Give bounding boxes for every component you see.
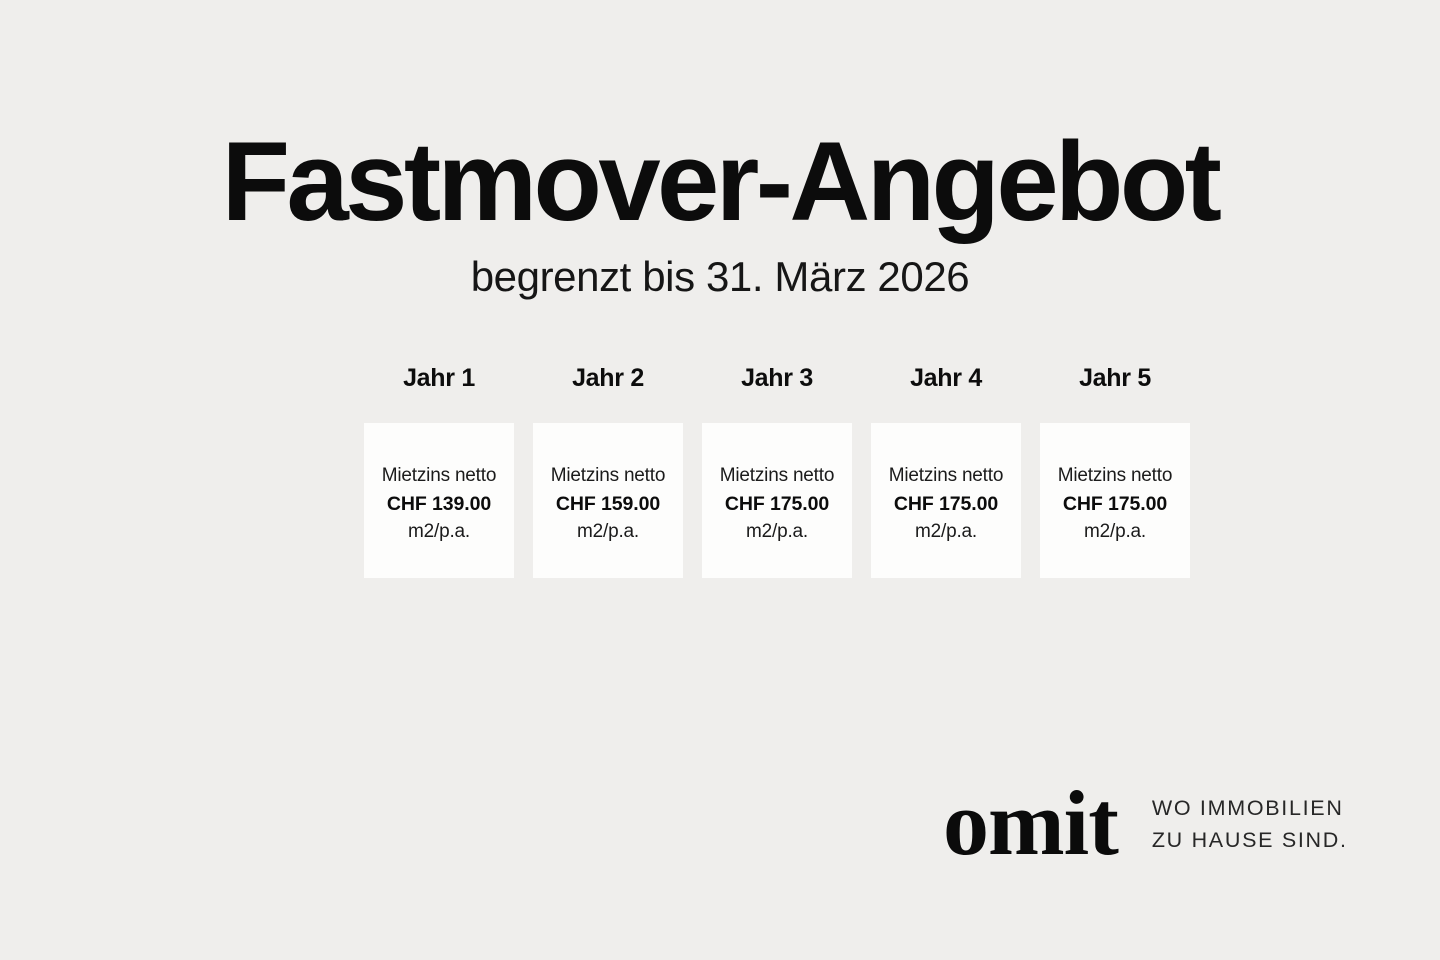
price-amount: CHF 159.00 xyxy=(556,490,660,518)
logo-tagline-line-1: WO IMMOBILIEN xyxy=(1152,795,1348,821)
price-description: Mietzins netto xyxy=(1058,462,1172,490)
price-amount: CHF 175.00 xyxy=(1063,490,1167,518)
brand-logo: omit WO IMMOBILIEN ZU HAUSE SIND. xyxy=(943,788,1348,858)
pricing-card-year-5: Jahr 5 Mietzins netto CHF 175.00 m2/p.a. xyxy=(1040,366,1190,578)
pricing-card-year-1: Jahr 1 Mietzins netto CHF 139.00 m2/p.a. xyxy=(364,366,514,578)
year-label: Jahr 5 xyxy=(1040,366,1190,397)
page-subtitle: begrenzt bis 31. März 2026 xyxy=(0,256,1440,298)
price-card: Mietzins netto CHF 139.00 m2/p.a. xyxy=(364,423,514,578)
price-card: Mietzins netto CHF 175.00 m2/p.a. xyxy=(702,423,852,578)
header-block: Fastmover-Angebot begrenzt bis 31. März … xyxy=(0,126,1440,298)
year-label: Jahr 3 xyxy=(702,366,852,397)
pricing-card-year-2: Jahr 2 Mietzins netto CHF 159.00 m2/p.a. xyxy=(533,366,683,578)
price-unit: m2/p.a. xyxy=(1084,518,1146,546)
price-description: Mietzins netto xyxy=(382,462,496,490)
pricing-cards-row: Jahr 1 Mietzins netto CHF 139.00 m2/p.a.… xyxy=(364,366,1192,578)
year-label: Jahr 2 xyxy=(533,366,683,397)
price-unit: m2/p.a. xyxy=(408,518,470,546)
price-card: Mietzins netto CHF 175.00 m2/p.a. xyxy=(1040,423,1190,578)
price-description: Mietzins netto xyxy=(720,462,834,490)
price-amount: CHF 175.00 xyxy=(725,490,829,518)
price-unit: m2/p.a. xyxy=(577,518,639,546)
price-amount: CHF 175.00 xyxy=(894,490,998,518)
logo-tagline: WO IMMOBILIEN ZU HAUSE SIND. xyxy=(1152,793,1348,853)
price-amount: CHF 139.00 xyxy=(387,490,491,518)
slide-canvas: Fastmover-Angebot begrenzt bis 31. März … xyxy=(0,0,1440,960)
price-unit: m2/p.a. xyxy=(746,518,808,546)
logo-wordmark-omit: omit xyxy=(943,788,1118,858)
price-description: Mietzins netto xyxy=(551,462,665,490)
logo-tagline-line-2: ZU HAUSE SIND. xyxy=(1152,827,1348,853)
pricing-card-year-3: Jahr 3 Mietzins netto CHF 175.00 m2/p.a. xyxy=(702,366,852,578)
page-title: Fastmover-Angebot xyxy=(0,126,1440,238)
year-label: Jahr 4 xyxy=(871,366,1021,397)
price-card: Mietzins netto CHF 159.00 m2/p.a. xyxy=(533,423,683,578)
pricing-card-year-4: Jahr 4 Mietzins netto CHF 175.00 m2/p.a. xyxy=(871,366,1021,578)
price-card: Mietzins netto CHF 175.00 m2/p.a. xyxy=(871,423,1021,578)
year-label: Jahr 1 xyxy=(364,366,514,397)
price-description: Mietzins netto xyxy=(889,462,1003,490)
price-unit: m2/p.a. xyxy=(915,518,977,546)
